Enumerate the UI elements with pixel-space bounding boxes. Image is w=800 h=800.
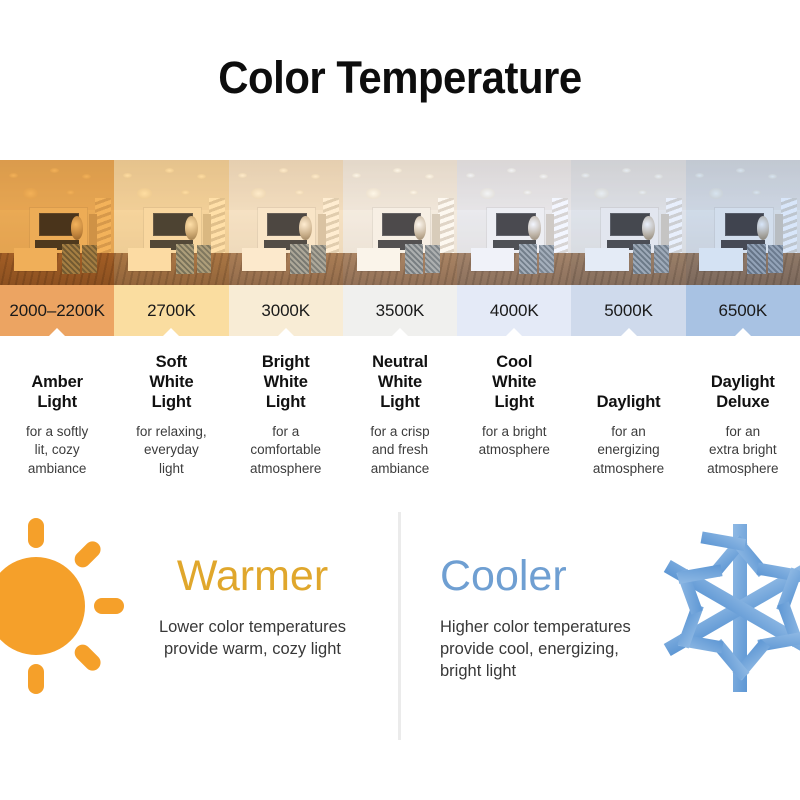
swatch-notch-icon bbox=[48, 328, 66, 337]
light-type-name: Amber Light bbox=[6, 372, 108, 412]
room-photo-6 bbox=[686, 160, 800, 285]
light-type-description: for a comfortable atmosphere bbox=[233, 423, 339, 478]
kelvin-swatch: 6500K bbox=[686, 285, 800, 336]
light-type-name: Daylight Deluxe bbox=[692, 372, 794, 412]
warm-cool-comparison: Warmer Lower color temperatures provide … bbox=[0, 500, 800, 800]
light-type-description: for an extra bright atmosphere bbox=[690, 423, 796, 478]
room-photo-5 bbox=[571, 160, 685, 285]
kelvin-swatch: 3500K bbox=[343, 285, 457, 336]
swatch-notch-icon bbox=[391, 328, 409, 337]
light-type-description: for a bright atmosphere bbox=[461, 423, 567, 460]
light-type-column: Cool White Lightfor a bright atmosphere bbox=[457, 355, 571, 495]
kelvin-label: 2700K bbox=[147, 301, 196, 321]
light-type-name: Daylight bbox=[577, 392, 679, 412]
photo-color-glow bbox=[343, 160, 457, 285]
warmer-description: Lower color temperatures provide warm, c… bbox=[110, 617, 395, 661]
warmer-heading: Warmer bbox=[110, 555, 395, 598]
light-type-column: Neutral White Lightfor a crisp and fresh… bbox=[343, 355, 457, 495]
swatch-notch-icon bbox=[277, 328, 295, 337]
kelvin-label: 4000K bbox=[490, 301, 539, 321]
photo-color-glow bbox=[229, 160, 343, 285]
room-photo-0 bbox=[0, 160, 114, 285]
room-photo-1 bbox=[114, 160, 228, 285]
kelvin-swatch: 2700K bbox=[114, 285, 228, 336]
room-photo-2 bbox=[229, 160, 343, 285]
kelvin-swatch: 3000K bbox=[229, 285, 343, 336]
color-temperature-infographic: Color Temperature 2000–2200K2700K3000K35… bbox=[0, 0, 800, 800]
light-type-name: Bright White Light bbox=[235, 352, 337, 412]
light-type-column: Amber Lightfor a softly lit, cozy ambian… bbox=[0, 355, 114, 495]
swatch-notch-icon bbox=[162, 328, 180, 337]
light-type-column: Daylightfor an energizing atmosphere bbox=[571, 355, 685, 495]
snowflake-icon bbox=[652, 520, 800, 696]
kelvin-swatch: 2000–2200K bbox=[0, 285, 114, 336]
warmer-block: Warmer Lower color temperatures provide … bbox=[110, 555, 395, 661]
kelvin-label: 5000K bbox=[604, 301, 653, 321]
light-type-description: for an energizing atmosphere bbox=[575, 423, 681, 478]
kelvin-label: 3500K bbox=[376, 301, 425, 321]
kelvin-label: 6500K bbox=[718, 301, 767, 321]
room-photo-3 bbox=[343, 160, 457, 285]
light-type-column: Soft White Lightfor relaxing, everyday l… bbox=[114, 355, 228, 495]
photo-color-glow bbox=[114, 160, 228, 285]
light-type-name: Neutral White Light bbox=[349, 352, 451, 412]
light-type-name: Cool White Light bbox=[463, 352, 565, 412]
swatch-notch-icon bbox=[620, 328, 638, 337]
light-type-info-row: Amber Lightfor a softly lit, cozy ambian… bbox=[0, 355, 800, 495]
kelvin-swatch: 4000K bbox=[457, 285, 571, 336]
photo-color-glow bbox=[686, 160, 800, 285]
vertical-divider bbox=[398, 512, 401, 740]
light-type-column: Bright White Lightfor a comfortable atmo… bbox=[229, 355, 343, 495]
light-type-column: Daylight Deluxefor an extra bright atmos… bbox=[686, 355, 800, 495]
sun-icon bbox=[0, 518, 124, 694]
room-photo-4 bbox=[457, 160, 571, 285]
page-title: Color Temperature bbox=[28, 52, 772, 104]
photo-color-glow bbox=[571, 160, 685, 285]
kelvin-label: 3000K bbox=[261, 301, 310, 321]
swatch-notch-icon bbox=[734, 328, 752, 337]
kelvin-swatch: 5000K bbox=[571, 285, 685, 336]
photo-color-glow bbox=[0, 160, 114, 285]
light-type-description: for a crisp and fresh ambiance bbox=[347, 423, 453, 478]
light-type-name: Soft White Light bbox=[120, 352, 222, 412]
light-type-description: for a softly lit, cozy ambiance bbox=[4, 423, 110, 478]
light-type-description: for relaxing, everyday light bbox=[118, 423, 224, 478]
room-photo-strip bbox=[0, 160, 800, 285]
kelvin-swatch-row: 2000–2200K2700K3000K3500K4000K5000K6500K bbox=[0, 285, 800, 336]
swatch-notch-icon bbox=[505, 328, 523, 337]
photo-color-glow bbox=[457, 160, 571, 285]
kelvin-label: 2000–2200K bbox=[9, 301, 104, 321]
